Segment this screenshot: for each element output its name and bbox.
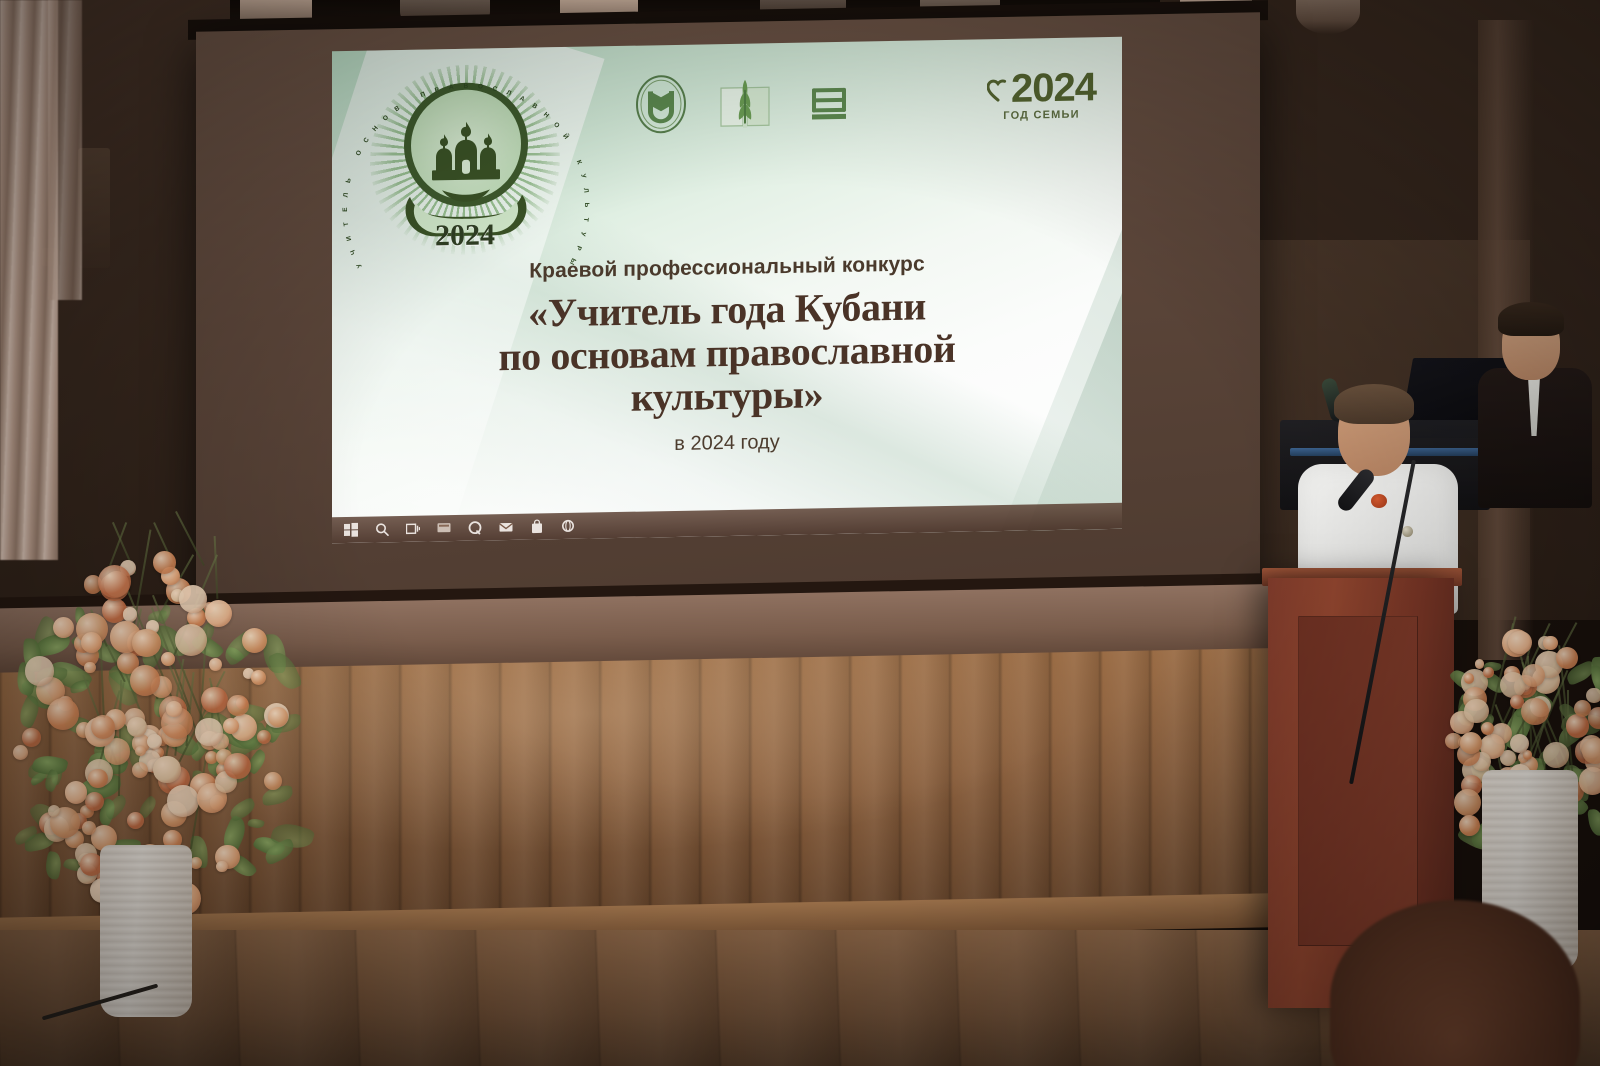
contest-emblem: УЧИТЕЛЬ ОСНОВ ПРАВОСЛАВНОЙ КУЛЬТУРЫ — [370, 63, 560, 256]
emblem-year: 2024 — [370, 217, 560, 254]
flower-bloom — [22, 728, 41, 747]
aide-hair — [1498, 302, 1564, 336]
flower-bloom — [135, 746, 145, 756]
vase-left — [100, 845, 192, 1017]
flower-bloom — [205, 600, 232, 627]
flower-bloom — [161, 652, 175, 666]
flower-bloom — [1586, 688, 1600, 703]
microphone-windscreen — [1371, 494, 1387, 508]
flower-bloom — [82, 821, 96, 835]
flower-bloom — [195, 718, 222, 745]
flower-bloom — [1556, 647, 1578, 669]
windows-start-icon[interactable] — [344, 523, 358, 537]
flower-bloom — [268, 707, 288, 727]
heart-icon — [987, 77, 1009, 101]
year-of-family-year: 2024 — [1011, 65, 1096, 112]
university-book-emblem-logo — [632, 73, 690, 136]
windows-taskbar[interactable] — [332, 503, 1122, 543]
flower-bloom — [1579, 767, 1600, 795]
search-icon[interactable] — [375, 522, 389, 536]
wheat-book-logo — [716, 71, 774, 134]
speaker-badge — [1402, 526, 1413, 537]
task-view-icon[interactable] — [406, 522, 420, 536]
flower-bloom — [264, 772, 282, 790]
year-of-family-logo: 2024 ГОД СЕМЬИ — [987, 65, 1096, 122]
flower-bloom — [224, 753, 250, 779]
slide-text-block: Краевой профессиональный конкурс «Учител… — [332, 249, 1122, 462]
store-icon[interactable] — [530, 519, 544, 533]
speaker-hair — [1334, 384, 1414, 424]
flower-bloom — [153, 551, 176, 574]
conference-hall-scene: УЧИТЕЛЬ ОСНОВ ПРАВОСЛАВНОЙ КУЛЬТУРЫ — [0, 0, 1600, 1066]
foliage-leaf — [1588, 808, 1600, 837]
foliage-leaf — [44, 851, 63, 880]
church-icon — [422, 119, 510, 183]
flower-bloom — [130, 665, 160, 695]
powerpoint-icon[interactable] — [437, 521, 451, 535]
slide-headline: «Учитель года Кубани по основам правосла… — [332, 281, 1122, 425]
flower-bloom — [1543, 742, 1568, 767]
flower-bloom — [123, 607, 137, 621]
man-in-dark-suit — [1478, 300, 1596, 510]
flower-bloom — [227, 695, 248, 716]
flower-bloom — [127, 812, 144, 829]
flower-bloom — [98, 565, 131, 598]
emblem-disc: УЧИТЕЛЬ ОСНОВ ПРАВОСЛАВНОЙ КУЛЬТУРЫ — [404, 82, 528, 208]
flower-bloom — [88, 769, 107, 788]
flower-bloom — [175, 624, 207, 656]
flower-bloom — [251, 670, 266, 685]
flower-bloom — [1566, 714, 1590, 738]
mail-icon[interactable] — [499, 520, 513, 534]
flower-bloom — [53, 617, 74, 638]
flower-bloom — [65, 781, 88, 804]
flower-bloom — [209, 658, 222, 671]
cortana-icon[interactable] — [468, 521, 482, 535]
presentation-slide: УЧИТЕЛЬ ОСНОВ ПРАВОСЛАВНОЙ КУЛЬТУРЫ — [332, 37, 1122, 543]
flower-bloom — [13, 745, 28, 760]
partner-logo-row — [632, 70, 858, 136]
year-of-family-caption: ГОД СЕМЬИ — [987, 108, 1096, 122]
flower-bloom — [1508, 631, 1531, 654]
flower-bloom — [84, 662, 96, 674]
flower-bloom — [201, 687, 227, 713]
flower-bloom — [167, 785, 199, 817]
floral-arrangement-left — [10, 500, 290, 880]
flower-bloom — [1454, 789, 1481, 816]
flower-bloom — [1459, 815, 1480, 836]
projection-screen: УЧИТЕЛЬ ОСНОВ ПРАВОСЛАВНОЙ КУЛЬТУРЫ — [196, 12, 1260, 610]
slide-tail: в 2024 году — [332, 424, 1122, 461]
flower-bloom — [132, 629, 161, 658]
stacked-books-logo — [800, 70, 858, 133]
flower-bloom — [1521, 698, 1548, 725]
flower-bloom — [216, 861, 228, 873]
wall-speaker — [78, 148, 110, 268]
flower-bloom — [1464, 699, 1488, 723]
browser-icon[interactable] — [561, 519, 575, 533]
flower-bloom — [132, 762, 148, 778]
flower-stem — [214, 536, 219, 599]
flower-bloom — [47, 698, 79, 730]
flower-bloom — [25, 656, 54, 685]
flower-bloom — [179, 585, 207, 613]
flower-bloom — [1543, 636, 1558, 651]
podium-panel — [1298, 616, 1418, 946]
flower-bloom — [1483, 667, 1494, 678]
curtain-left-inner — [48, 0, 82, 300]
foliage-leaf — [247, 817, 265, 830]
